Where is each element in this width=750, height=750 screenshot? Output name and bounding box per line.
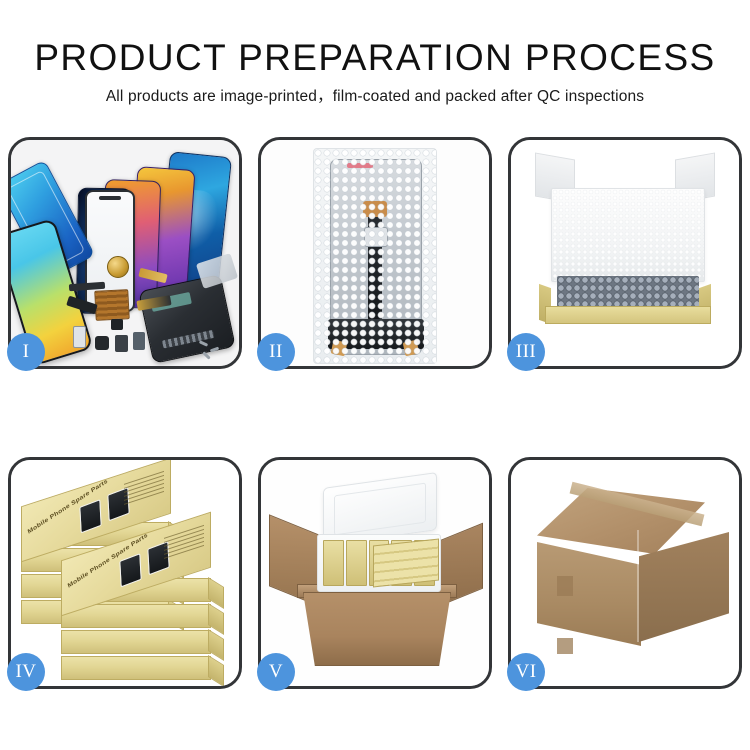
process-step-panel-5: V [258, 457, 492, 689]
gold-boxes-flat [373, 539, 439, 588]
vibration-motor-part [107, 256, 129, 278]
step-2-image [261, 140, 489, 366]
white-foam-sheet [551, 188, 705, 282]
bubble-wrapped-screen-scene [261, 140, 489, 366]
product-preparation-infographic: PRODUCT PREPARATION PROCESS All products… [0, 0, 750, 750]
page-title: PRODUCT PREPARATION PROCESS [0, 36, 750, 80]
open-carton-scene [261, 460, 489, 686]
carton-tab-lower [557, 638, 573, 654]
step-5-image [261, 460, 489, 686]
box-stack: Mobile Phone Spare Parts Mobile Phone Sp… [17, 474, 231, 674]
step-badge-4: IV [7, 653, 45, 691]
sim-tray-part [73, 326, 86, 348]
process-step-panel-6: VI [508, 457, 742, 689]
carton-front-face [537, 542, 641, 646]
carton-edge-highlight [637, 530, 639, 642]
screws-group [199, 340, 227, 360]
stacked-box-front-3 [61, 630, 211, 654]
speaker-part [115, 335, 128, 352]
step-badge-5: V [257, 653, 295, 691]
header: PRODUCT PREPARATION PROCESS All products… [0, 0, 750, 106]
step-3-image [511, 140, 739, 366]
step-badge-6: VI [507, 653, 545, 691]
step-badge-1: I [7, 333, 45, 371]
process-steps-grid: I II [8, 137, 742, 689]
carton-tab-upper [557, 576, 573, 596]
step-badge-2: II [257, 333, 295, 371]
small-chip-part [111, 319, 123, 330]
camera-module-part [95, 336, 109, 350]
grey-bubble-wrap-filling [557, 276, 699, 310]
step-4-image: Mobile Phone Spare Parts Mobile Phone Sp… [11, 460, 239, 686]
bubble-wrap-bag [313, 148, 437, 364]
process-step-panel-4: Mobile Phone Spare Parts Mobile Phone Sp… [8, 457, 242, 689]
step-badge-3: III [507, 333, 545, 371]
process-step-panel-3: III [508, 137, 742, 369]
open-gold-box-scene [511, 140, 739, 366]
gold-box-front-panel [545, 306, 711, 324]
phone-parts-collage [11, 140, 239, 366]
stacked-gold-boxes-scene: Mobile Phone Spare Parts Mobile Phone Sp… [11, 460, 239, 686]
process-step-panel-2: II [258, 137, 492, 369]
bubble-texture [314, 149, 436, 363]
logic-board-part [94, 289, 130, 321]
sealed-carton-scene [511, 460, 739, 686]
page-subtitle: All products are image-printed，film-coat… [0, 84, 750, 106]
battery-connector-part [133, 332, 145, 350]
process-step-panel-1: I [8, 137, 242, 369]
step-1-image [11, 140, 239, 366]
stacked-box-front-4 [61, 656, 211, 680]
carton-body [303, 592, 451, 666]
step-6-image [511, 460, 739, 686]
